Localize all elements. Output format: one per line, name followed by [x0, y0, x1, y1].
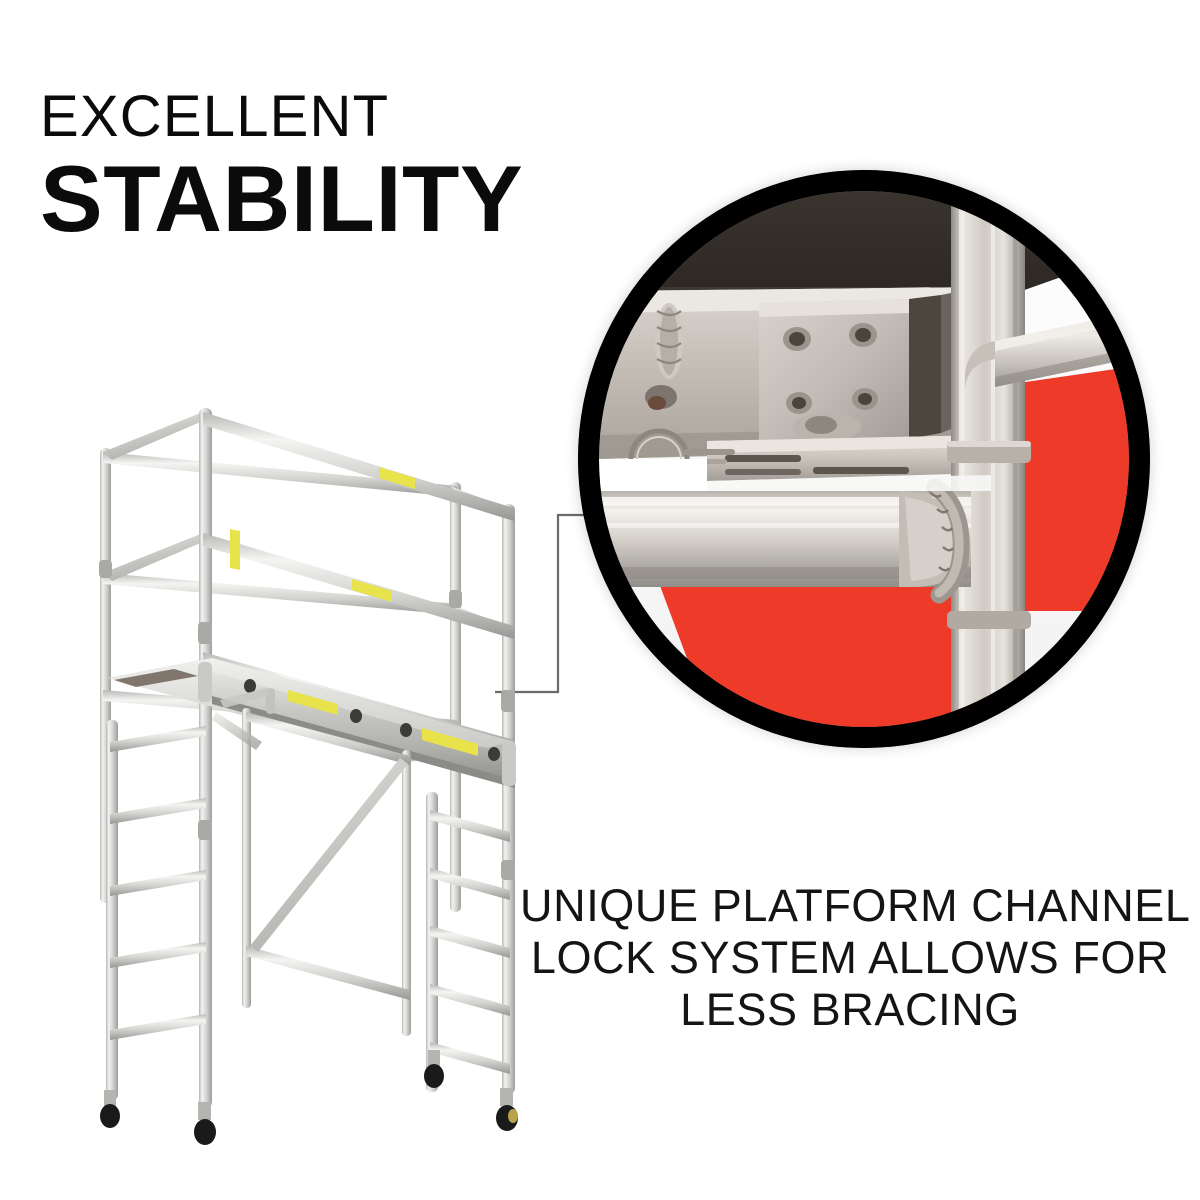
swivel-casters	[100, 1050, 518, 1145]
channel-lock-bar	[707, 435, 989, 481]
marketing-slide: EXCELLENT STABILITY	[0, 0, 1200, 1200]
feature-caption: UNIQUE PLATFORM CHANNEL LOCK SYSTEM ALLO…	[520, 880, 1180, 1037]
caption-line-2: LOCK SYSTEM ALLOWS FOR	[520, 932, 1180, 984]
scaffold-tower-image	[70, 390, 540, 1150]
headline-line-2: STABILITY	[40, 152, 523, 246]
closeup-illustration	[599, 191, 1129, 727]
headline-line-1: EXCELLENT	[40, 88, 523, 146]
ladder-rungs-left	[106, 720, 206, 1100]
bracket-plate	[759, 293, 951, 443]
vertical-standard-tube	[947, 191, 1031, 727]
horizontal-ledger-tube	[599, 491, 971, 587]
detail-photo-circle	[578, 170, 1150, 748]
ladder-rungs-right	[426, 792, 510, 1092]
caption-line-3: LESS BRACING	[520, 984, 1180, 1036]
platform-channel-lock-closeup	[599, 191, 1129, 727]
caption-line-1: UNIQUE PLATFORM CHANNEL	[520, 880, 1180, 932]
page-title: EXCELLENT STABILITY	[40, 88, 523, 246]
